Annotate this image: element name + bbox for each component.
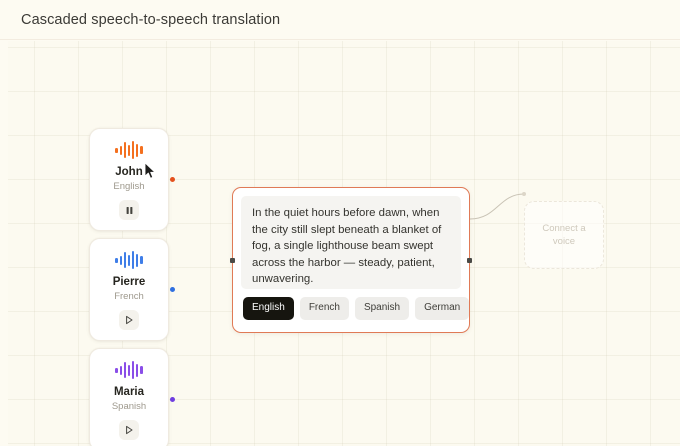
language-selector[interactable]: English French Spanish German bbox=[241, 297, 461, 320]
edge-text-panel-to-placeholder bbox=[470, 194, 524, 219]
play-button[interactable] bbox=[119, 310, 139, 330]
voice-node-pierre[interactable]: Pierre French bbox=[89, 238, 169, 341]
voice-node-john[interactable]: John English bbox=[89, 128, 169, 231]
text-panel-output-handle[interactable] bbox=[467, 258, 472, 263]
translation-text: In the quiet hours before dawn, when the… bbox=[241, 196, 461, 289]
play-button[interactable] bbox=[119, 420, 139, 440]
pause-icon bbox=[125, 206, 134, 215]
voice-node-language: French bbox=[114, 290, 144, 303]
voice-node-maria[interactable]: Maria Spanish bbox=[89, 348, 169, 446]
translation-text-node[interactable]: In the quiet hours before dawn, when the… bbox=[232, 187, 470, 333]
text-panel-input-handle[interactable] bbox=[230, 258, 235, 263]
voice-node-language: Spanish bbox=[112, 400, 146, 413]
voice-node-maria-output-handle[interactable] bbox=[170, 397, 175, 402]
edge-endpoint-dot bbox=[522, 192, 526, 196]
audio-waveform-icon bbox=[115, 250, 142, 270]
flow-canvas[interactable]: John English Pierre French bbox=[0, 41, 680, 446]
play-icon bbox=[124, 315, 134, 325]
language-option-spanish[interactable]: Spanish bbox=[355, 297, 409, 320]
voice-node-pierre-output-handle[interactable] bbox=[170, 287, 175, 292]
placeholder-label: Connect a voice bbox=[525, 222, 603, 248]
page-title: Cascaded speech-to-speech translation bbox=[21, 12, 280, 28]
language-option-french[interactable]: French bbox=[300, 297, 349, 320]
audio-waveform-icon bbox=[115, 360, 142, 380]
language-option-english[interactable]: English bbox=[243, 297, 294, 320]
app-root: Cascaded speech-to-speech translation Jo… bbox=[0, 0, 680, 446]
voice-node-john-output-handle[interactable] bbox=[170, 177, 175, 182]
voice-node-name: John bbox=[115, 165, 142, 179]
voice-node-language: English bbox=[113, 180, 144, 193]
voice-node-name: Maria bbox=[114, 385, 144, 399]
connect-a-voice-placeholder-node[interactable]: Connect a voice bbox=[524, 201, 604, 269]
pause-button[interactable] bbox=[119, 200, 139, 220]
play-icon bbox=[124, 425, 134, 435]
app-header: Cascaded speech-to-speech translation bbox=[0, 0, 680, 40]
voice-node-name: Pierre bbox=[113, 275, 146, 289]
audio-waveform-icon bbox=[115, 140, 142, 160]
language-option-german[interactable]: German bbox=[415, 297, 469, 320]
